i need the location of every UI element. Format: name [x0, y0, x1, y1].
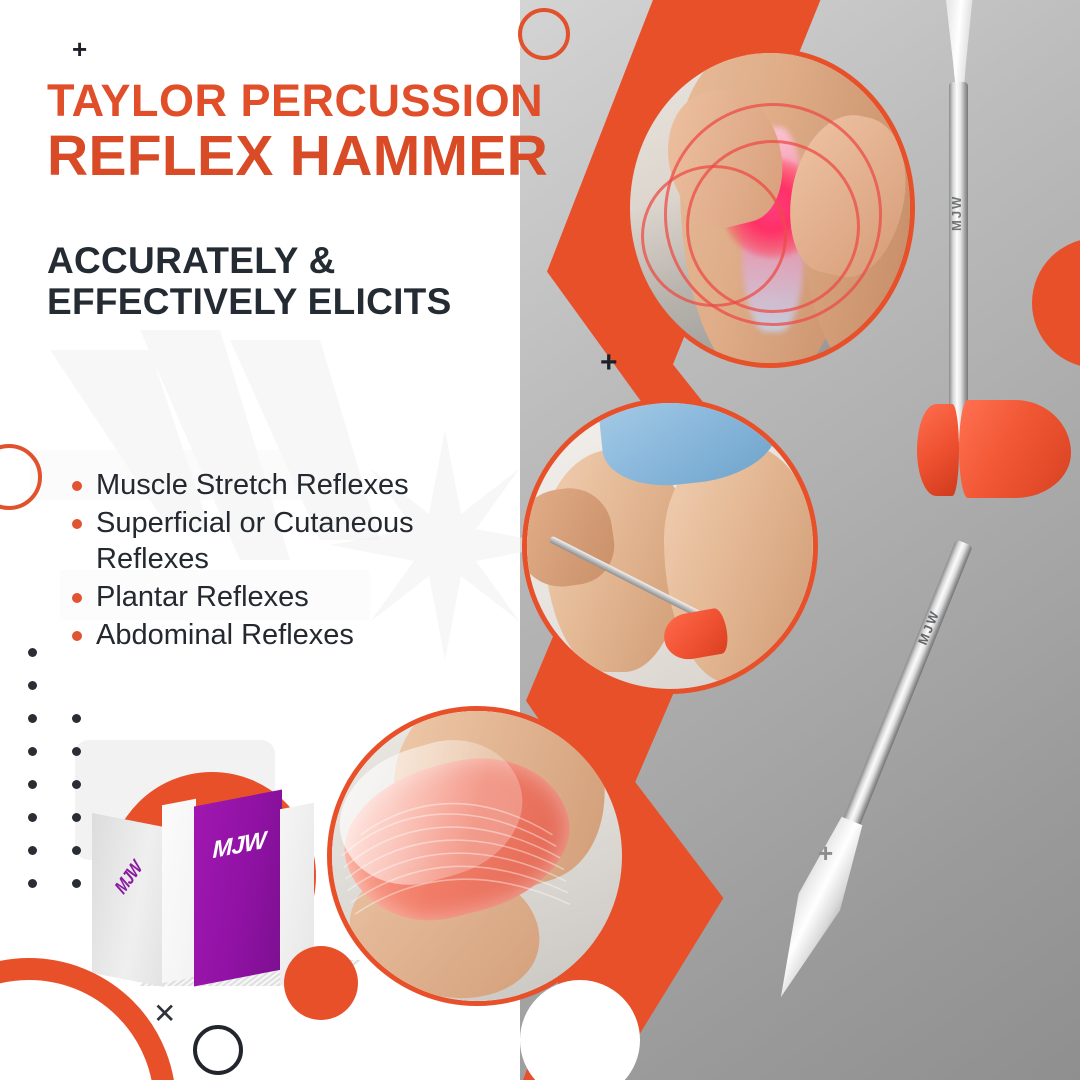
- plus-icon: +: [818, 840, 833, 866]
- circle-outline-icon: [193, 1025, 243, 1075]
- list-item: Plantar Reflexes: [68, 580, 508, 616]
- subheadline-block: ACCURATELY & EFFECTIVELY ELICITS: [47, 240, 607, 323]
- cross-icon: ✕: [153, 1000, 176, 1028]
- photo-muscle-anatomy: [327, 706, 627, 1006]
- reflex-hammer-upper: MJW: [905, 0, 1080, 530]
- hammer-head-small-end: [917, 404, 959, 496]
- dot-grid-pattern: [28, 648, 98, 898]
- box-side-panel: [92, 813, 164, 987]
- subheadline-line-2: EFFECTIVELY ELICITS: [47, 281, 607, 322]
- photo-reflex-test: [522, 398, 818, 694]
- plus-icon: +: [600, 348, 618, 378]
- plus-icon: +: [72, 36, 87, 62]
- hammer-engraving-label: MJW: [902, 576, 958, 679]
- headline-line-2: REFLEX HAMMER: [47, 127, 657, 185]
- box-edge-panel: [162, 799, 196, 984]
- headline-block: TAYLOR PERCUSSION REFLEX HAMMER: [47, 78, 657, 185]
- list-item: Superficial or Cutaneous Reflexes: [68, 506, 508, 578]
- hammer-engraving-label: MJW: [949, 158, 968, 268]
- orange-circle-small: [284, 946, 358, 1020]
- box-front-panel: [194, 789, 282, 986]
- subheadline-line-1: ACCURATELY &: [47, 240, 607, 281]
- poster-canvas: TAYLOR PERCUSSION REFLEX HAMMER ACCURATE…: [0, 0, 1080, 1080]
- list-item: Muscle Stretch Reflexes: [68, 468, 508, 504]
- photo-knee-pain: [625, 48, 915, 368]
- circle-outline-icon: [518, 8, 570, 60]
- hammer-head-triangular: [959, 400, 1071, 498]
- headline-line-1: TAYLOR PERCUSSION: [47, 78, 657, 125]
- feature-list: Muscle Stretch Reflexes Superficial or C…: [68, 468, 508, 656]
- hammer-paddle-end: [752, 809, 881, 1008]
- list-item: Abdominal Reflexes: [68, 618, 508, 654]
